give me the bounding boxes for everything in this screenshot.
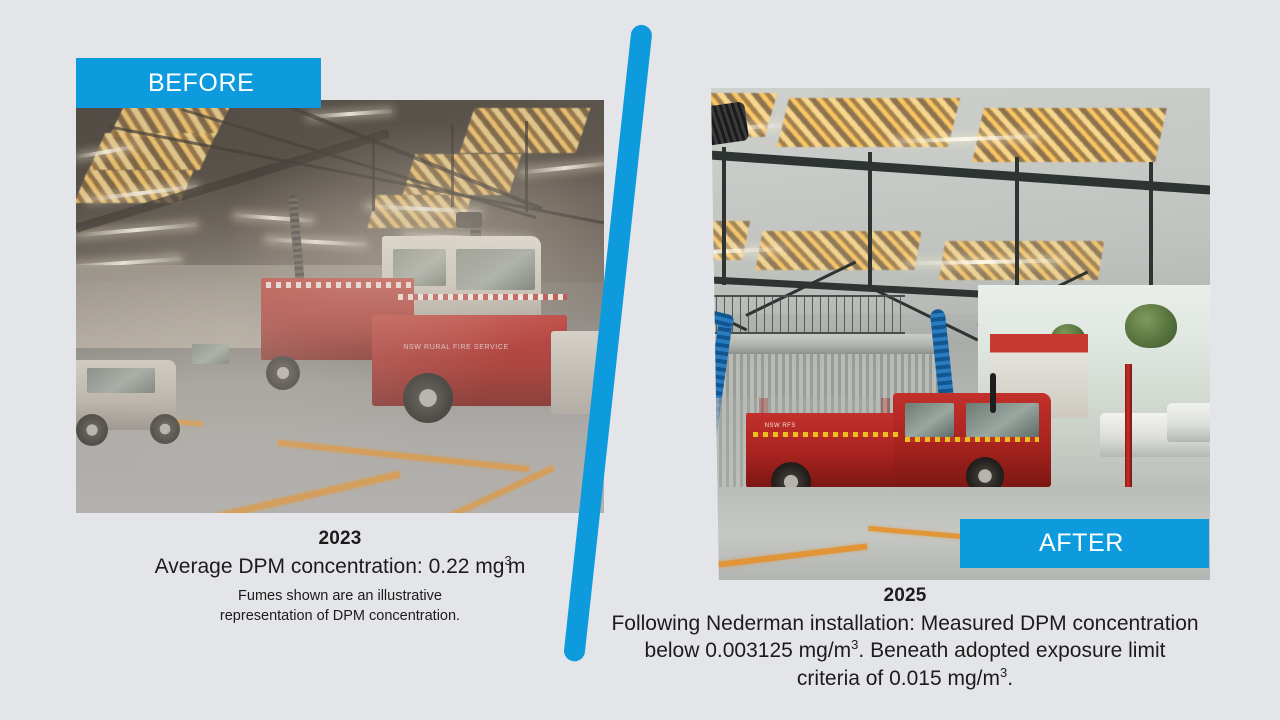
before-disclaimer-line-1: Fumes shown are an illustrative	[76, 587, 604, 606]
before-label-text: BEFORE	[148, 69, 254, 98]
after-caption-line-2a: below 0.003125 mg/m	[645, 639, 852, 662]
after-label-banner: AFTER	[960, 519, 1209, 568]
after-year: 2025	[600, 585, 1210, 607]
before-label-banner: BEFORE	[76, 58, 321, 108]
mezzanine-cladding	[600, 354, 942, 398]
before-disclaimer-line-2: representation of DPM concentration.	[76, 607, 604, 626]
after-measurement-text: Following Nederman installation: Measure…	[600, 610, 1210, 692]
tree	[1125, 304, 1177, 348]
after-station-photograph: NSW RFS	[600, 88, 1210, 580]
parked-car	[1167, 403, 1210, 442]
after-caption-block: 2025 Following Nederman installation: Me…	[600, 585, 1210, 692]
rfs-ute-windscreen	[966, 403, 1039, 437]
mezzanine-platform	[600, 334, 942, 354]
after-label-text: AFTER	[1039, 529, 1124, 558]
support-post	[1125, 364, 1132, 502]
before-measurement-text: Average DPM concentration: 0.22 mg3m	[76, 553, 604, 580]
rfs-ute-livery-text: NSW RFS	[765, 423, 796, 429]
after-caption-line-3a: criteria of 0.015 mg/m	[797, 667, 1000, 690]
rfs-ute-side-window	[905, 403, 954, 437]
rfs-ute-chevron	[753, 432, 899, 437]
before-measurement-suffix: m	[508, 555, 526, 578]
roof-post	[722, 147, 726, 285]
rfs-ute-snorkel	[990, 373, 996, 412]
before-station-photograph: NSW RURAL FIRE SERVICE	[76, 100, 604, 513]
bay-frame-post	[637, 398, 646, 516]
dpm-fume-haze-overlay	[76, 100, 604, 513]
before-photo-panel: NSW RURAL FIRE SERVICE	[76, 100, 604, 513]
rfs-ute-chevron	[905, 437, 1039, 442]
before-caption-block: 2023 Average DPM concentration: 0.22 mg3…	[76, 528, 604, 626]
before-measurement-prefix: Average DPM concentration: 0.22 mg	[155, 555, 505, 578]
skylight-panel	[972, 108, 1167, 162]
roof-post	[868, 152, 872, 290]
before-year: 2023	[76, 528, 604, 550]
roof-post	[1149, 162, 1153, 300]
after-caption-line-1: Following Nederman installation: Measure…	[611, 612, 1198, 635]
mezzanine-railing	[612, 295, 905, 334]
roof-post	[1015, 157, 1019, 295]
after-caption-line-2b: . Beneath adopted exposure limit	[858, 639, 1165, 662]
after-caption-line-3b: .	[1007, 667, 1013, 690]
after-photo-panel: NSW RFS	[600, 88, 1210, 580]
nederman-extraction-hose	[646, 324, 678, 433]
